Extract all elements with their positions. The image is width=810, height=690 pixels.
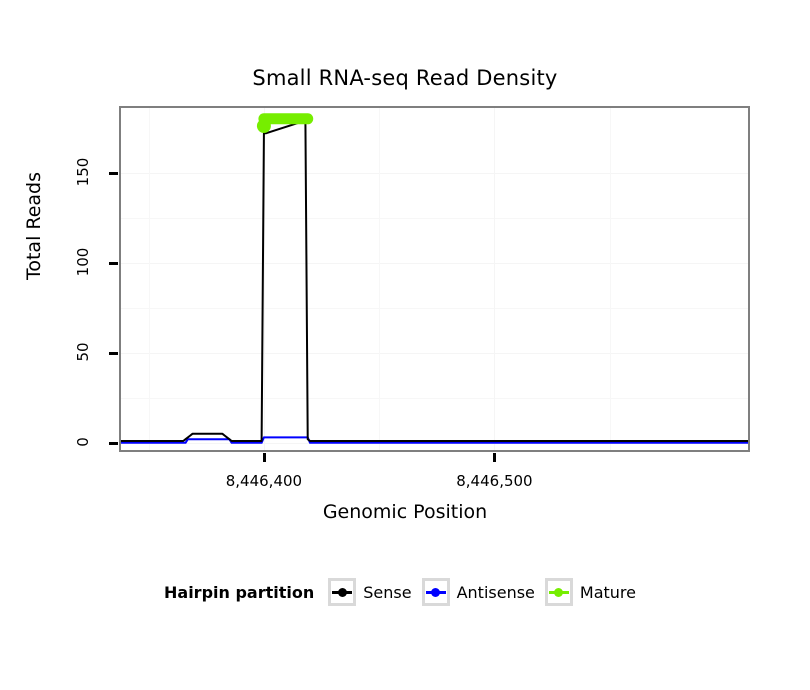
series-marker-mature [257, 119, 271, 133]
y-tick-label: 50 [74, 332, 92, 372]
legend-key-icon [422, 578, 450, 606]
legend-label: Mature [580, 583, 636, 602]
x-axis-title: Genomic Position [0, 501, 810, 523]
legend-key-dot [554, 588, 563, 597]
legend-item-sense[interactable]: Sense [328, 578, 411, 606]
legend-key-dot [338, 588, 347, 597]
y-tick-mark [109, 262, 118, 265]
legend-entries: SenseAntisenseMature [328, 578, 646, 606]
legend-item-antisense[interactable]: Antisense [422, 578, 535, 606]
y-axis-title: Total Reads [23, 126, 45, 326]
page-title: Small RNA-seq Read Density [0, 66, 810, 90]
y-tick-label: 0 [74, 422, 92, 462]
y-tick-label: 100 [74, 242, 92, 282]
x-tick-mark [493, 453, 496, 462]
legend-item-mature[interactable]: Mature [545, 578, 636, 606]
plot-area [121, 108, 748, 450]
y-tick-mark [109, 172, 118, 175]
plot-panel [119, 106, 750, 452]
legend-label: Antisense [457, 583, 535, 602]
legend-label: Sense [363, 583, 411, 602]
legend-key-dot [431, 588, 440, 597]
x-tick-label: 8,446,400 [194, 472, 334, 490]
y-tick-label: 150 [74, 152, 92, 192]
legend-title: Hairpin partition [164, 583, 314, 602]
y-tick-mark [109, 442, 118, 445]
legend-key-icon [328, 578, 356, 606]
y-tick-mark [109, 352, 118, 355]
legend: Hairpin partition SenseAntisenseMature [0, 578, 810, 606]
x-tick-mark [263, 453, 266, 462]
x-tick-label: 8,446,500 [424, 472, 564, 490]
series-line-sense [121, 121, 748, 441]
series-layer [121, 108, 748, 450]
legend-key-icon [545, 578, 573, 606]
